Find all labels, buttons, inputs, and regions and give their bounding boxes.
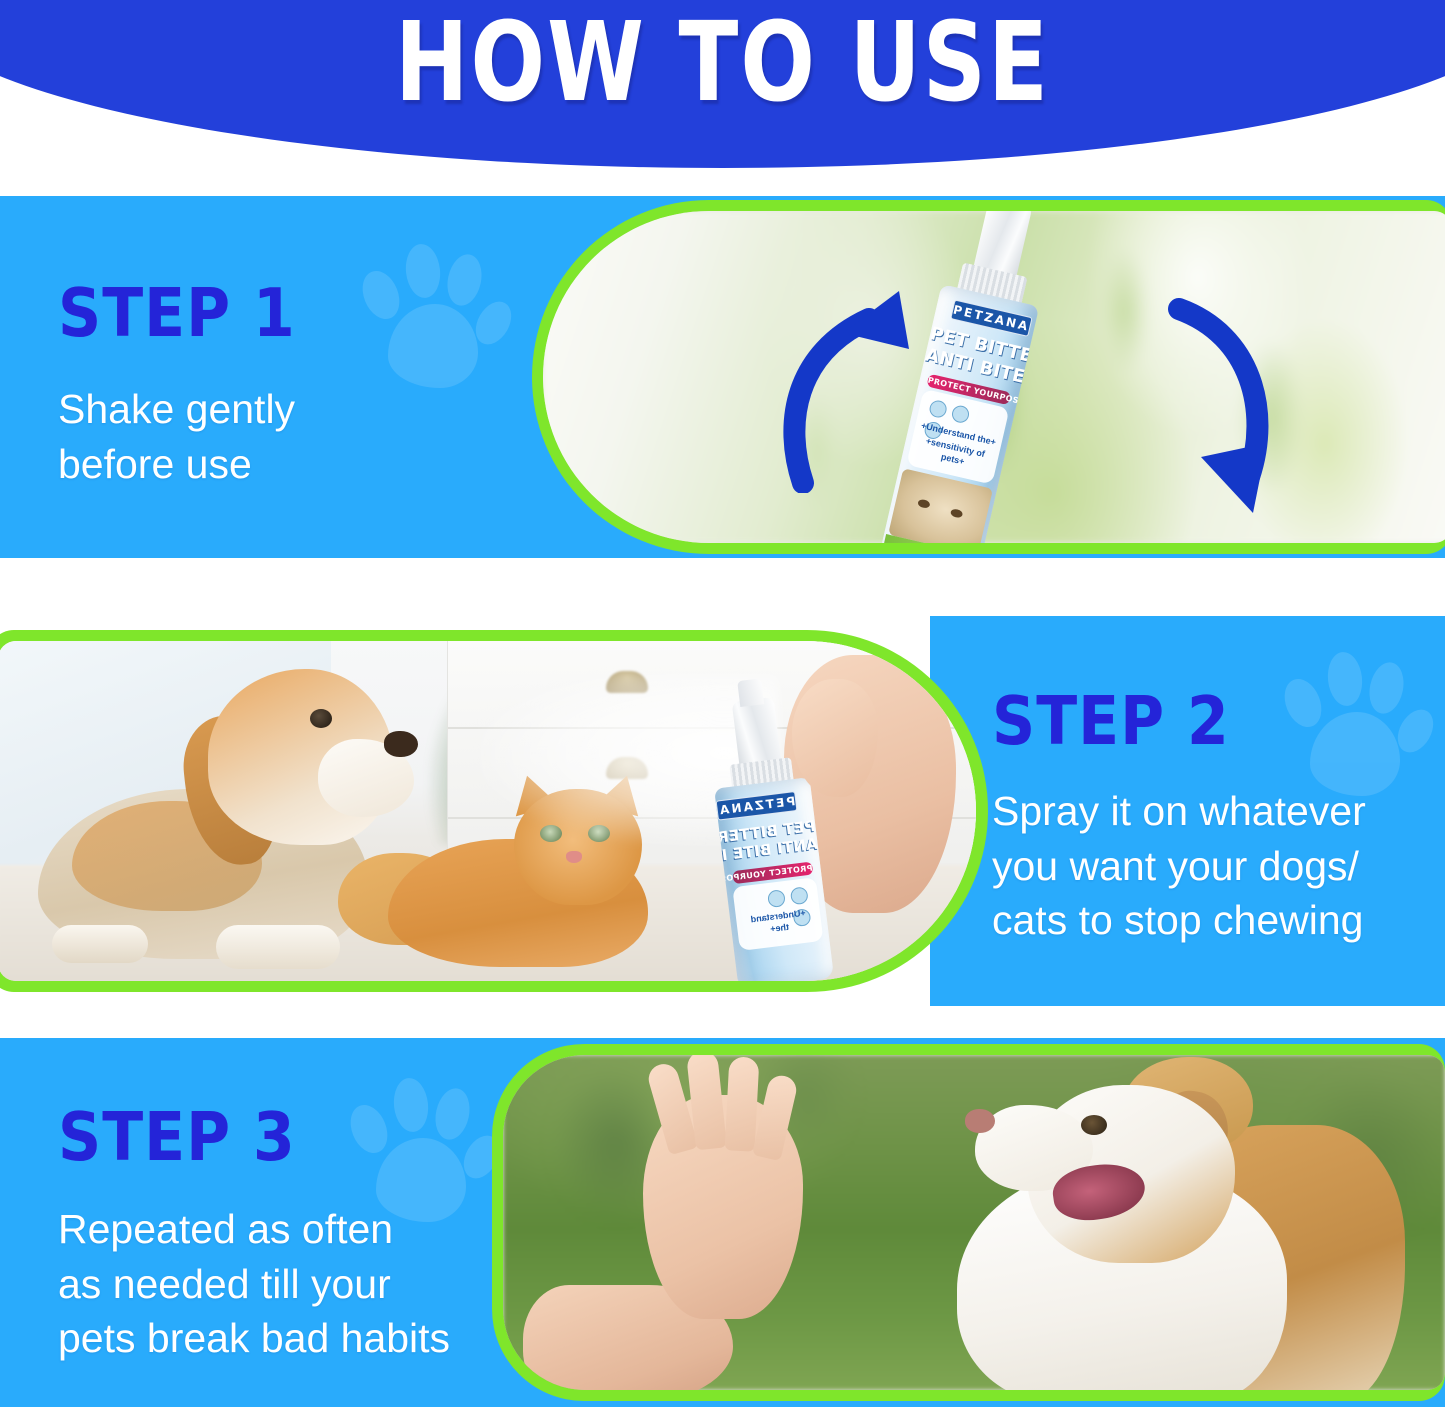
- page-header: HOW TO USE: [0, 0, 1445, 170]
- step-1-body-line-1: Shake gently: [58, 382, 295, 437]
- step-2-image-card: PETZANA PET BITTER TASTE ANTI BITE INDUC…: [0, 630, 988, 992]
- step-1-heading: STEP 1: [58, 280, 296, 347]
- shake-arrow-right-icon: [1143, 291, 1293, 521]
- step-1-body: Shake gently before use: [58, 382, 295, 491]
- step-2-photo: PETZANA PET BITTER TASTE ANTI BITE INDUC…: [0, 641, 976, 981]
- step-2-body-line-3: cats to stop chewing: [992, 893, 1366, 948]
- bottle-feature-box-2: +Understand the+: [732, 877, 823, 951]
- step-2-section: STEP 2 Spray it on whatever you want you…: [0, 616, 1445, 1006]
- australian-shepherd-dog: [903, 1061, 1423, 1390]
- bottle-sub-line-1-2: +Understand the+: [740, 905, 818, 938]
- step-3-heading: STEP 3: [58, 1104, 296, 1171]
- step-3-body-line-2: as needed till your: [58, 1257, 450, 1312]
- step-3-section: STEP 3 Repeated as often as needed till …: [0, 1038, 1445, 1407]
- paw-print-watermark: [1282, 646, 1432, 806]
- step-2-heading: STEP 2: [992, 688, 1230, 755]
- step-3-body-line-1: Repeated as often: [58, 1202, 450, 1257]
- human-hand-high-five: [523, 1213, 823, 1390]
- thumb: [792, 679, 878, 797]
- page-title: HOW TO USE: [0, 8, 1445, 118]
- step-1-photo: PETZANA PET BITTER TASTE ANTI BITE INDUC…: [543, 211, 1445, 543]
- step-2-body-line-2: you want your dogs/: [992, 839, 1366, 894]
- bottle-brand-text-2: PETZANA: [716, 791, 798, 821]
- bottle-feature-box: +Understand the+ +sensitivity of pets+: [906, 389, 1009, 485]
- step-3-image-card: [492, 1044, 1445, 1401]
- hand-holding-bottle: PETZANA PET BITTER TASTE ANTI BITE INDUC…: [698, 655, 968, 979]
- step-2-body-line-1: Spray it on whatever: [992, 784, 1366, 839]
- step-1-image-card: PETZANA PET BITTER TASTE ANTI BITE INDUC…: [532, 200, 1445, 554]
- step-1-section: STEP 1 Shake gently before use PETZANA P…: [0, 196, 1445, 558]
- step-3-photo: [503, 1055, 1445, 1390]
- step-3-body-line-3: pets break bad habits: [58, 1311, 450, 1366]
- step-1-body-line-2: before use: [58, 437, 295, 492]
- step-3-body: Repeated as often as needed till your pe…: [58, 1202, 450, 1366]
- step-2-body: Spray it on whatever you want your dogs/…: [992, 784, 1366, 948]
- paw-print-watermark: [360, 238, 510, 398]
